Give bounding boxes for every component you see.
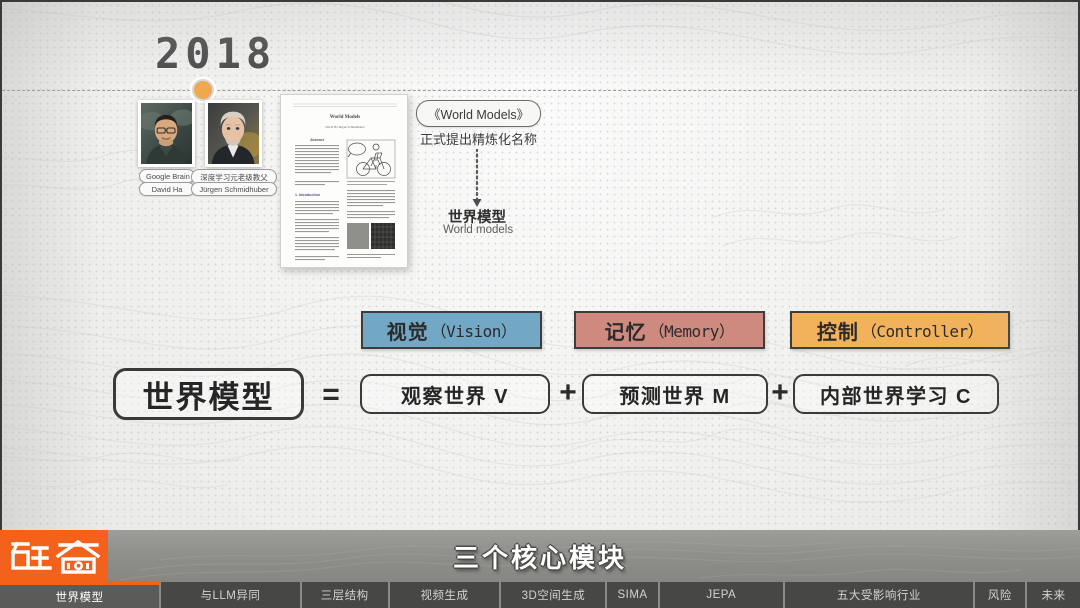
person-name-tag-2: Jürgen Schmidhuber [191,182,277,196]
nav-item-3d-space[interactable]: 3D空间生成 [501,582,607,608]
person-name-tag-1: David Ha [139,182,195,196]
portrait-david-ha [138,100,195,167]
svg-text:Abstract: Abstract [310,138,325,142]
portrait-image-2 [208,103,259,164]
equation-term-c: 内部世界学习 C [793,374,999,414]
timeline-node-marker [192,79,214,101]
callout-note: 正式提出精炼化名称 [420,129,537,148]
equation-subject-box: 世界模型 [113,368,304,420]
dotted-arrow-down [470,149,484,211]
slide-stage: 2018 [0,0,1080,608]
module-box-vision: 视觉 （Vision） [361,311,542,349]
nav-item-jepa[interactable]: JEPA [660,582,785,608]
equation-term-m: 预测世界 M [582,374,768,414]
paper-thumbnail-graphic: World Models David Ha Jürgen Schmidhuber… [281,95,408,268]
brand-logo-glyph [6,536,102,576]
nav-item-video-generation[interactable]: 视频生成 [390,582,502,608]
nav-item-world-model[interactable]: 世界模型 [0,582,161,608]
equation-term-v: 观察世界 V [360,374,550,414]
portrait-jurgen-schmidhuber [205,100,262,167]
module-box-controller: 控制 （Controller） [790,311,1010,349]
slide-canvas: 2018 [0,0,1080,530]
world-models-pill: 《World Models》 [416,100,541,127]
topographic-texture [0,0,1080,530]
portrait-image-1 [141,103,192,164]
module-memory-en: （Memory） [649,318,735,342]
nav-item-sima[interactable]: SIMA [607,582,659,608]
module-memory-cn: 记忆 [605,316,647,345]
banner-title: 三个核心模块 [0,530,1080,582]
svg-text:1. Introduction: 1. Introduction [295,193,320,197]
equation-plus-sign-1: + [553,378,583,408]
slide-vignette [2,2,1078,530]
timeline-year: 2018 [155,29,276,78]
equation-equals-sign: = [314,380,348,410]
brand-logo[interactable] [0,530,108,582]
person-org-tag-1: Google Brain [139,169,195,183]
world-models-result-en: World models [443,224,513,236]
footer-banner: 三个核心模块 [0,530,1080,582]
module-vision-cn: 视觉 [387,316,429,345]
module-vision-en: （Vision） [431,318,517,342]
nav-item-llm-comparison[interactable]: 与LLM异同 [161,582,302,608]
section-nav: 世界模型 与LLM异同 三层结构 视频生成 3D空间生成 SIMA JEPA 五… [0,582,1080,608]
svg-text:World Models: World Models [330,115,360,120]
nav-item-future[interactable]: 未来 [1027,582,1080,608]
nav-item-three-layer[interactable]: 三层结构 [302,582,390,608]
module-box-memory: 记忆 （Memory） [574,311,765,349]
dot-grid-texture [2,2,1078,530]
paper-thumbnail: World Models David Ha Jürgen Schmidhuber… [280,94,408,268]
nav-item-industries[interactable]: 五大受影响行业 [785,582,975,608]
nav-item-risk[interactable]: 风险 [975,582,1027,608]
svg-text:David Ha Jürgen Schmidhuber: David Ha Jürgen Schmidhuber [325,125,365,129]
module-controller-cn: 控制 [817,316,859,345]
timeline-axis [2,90,1080,91]
module-controller-en: （Controller） [861,318,983,342]
equation-plus-sign-2: + [765,378,795,408]
